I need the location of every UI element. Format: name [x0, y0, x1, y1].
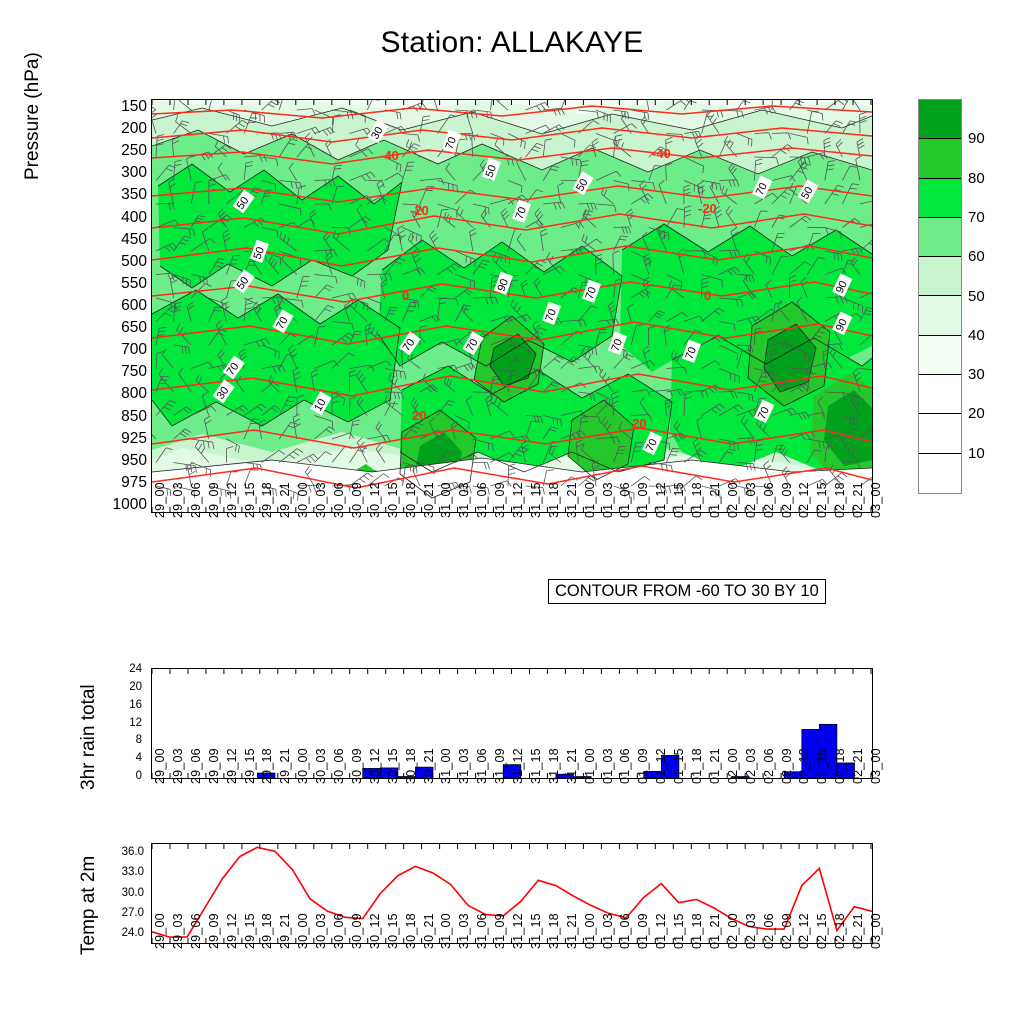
time-tick-31_06: 31_06 — [475, 482, 489, 518]
pressure-tick-600: 600 — [121, 298, 147, 313]
rain-tick-20: 20 — [129, 681, 142, 693]
time-tick-31_21: 31_21 — [565, 482, 579, 518]
time-tick-01_00: 01_00 — [583, 748, 597, 784]
colorbar-segment-3 — [919, 218, 961, 257]
rain-axis-title: 3hr rain total — [78, 684, 100, 790]
colorbar-segment-8 — [919, 414, 961, 453]
time-tick-29_18: 29_18 — [260, 482, 274, 518]
rain-tick-16: 16 — [129, 699, 142, 711]
time-tick-01_18: 01_18 — [690, 748, 704, 784]
time-tick-02_15: 02_15 — [815, 913, 829, 949]
rain-tick-24: 24 — [129, 663, 142, 675]
time-tick-30_00: 30_00 — [296, 748, 310, 784]
time-tick-29_15: 29_15 — [243, 748, 257, 784]
main-y-axis-ticks: 1502002503003504004505005506006507007508… — [95, 99, 147, 513]
time-tick-30_12: 30_12 — [368, 913, 382, 949]
time-tick-30_12: 30_12 — [368, 482, 382, 518]
colorbar-tick-90: 90 — [968, 130, 985, 147]
temp-y-axis-ticks: 36.033.030.027.024.0 — [100, 843, 144, 944]
time-tick-02_09: 02_09 — [780, 748, 794, 784]
pressure-tick-550: 550 — [121, 276, 147, 291]
time-tick-31_00: 31_00 — [439, 748, 453, 784]
time-tick-03_00: 03_00 — [869, 913, 883, 949]
time-tick-02_06: 02_06 — [762, 913, 776, 949]
pressure-tick-950: 950 — [121, 453, 147, 468]
time-tick-31_06: 31_06 — [475, 748, 489, 784]
main-x-axis-labels: 29_0029_0329_0629_0929_1229_1529_1829_21… — [151, 518, 873, 588]
time-tick-29_18: 29_18 — [260, 913, 274, 949]
time-tick-30_15: 30_15 — [386, 748, 400, 784]
time-tick-03_00: 03_00 — [869, 482, 883, 518]
time-tick-31_15: 31_15 — [529, 913, 543, 949]
isotherm-label-zero: 0 — [402, 288, 409, 303]
time-tick-02_00: 02_00 — [726, 913, 740, 949]
pressure-tick-150: 150 — [121, 99, 147, 114]
rain-tick-0: 0 — [136, 770, 142, 782]
time-tick-01_18: 01_18 — [690, 913, 704, 949]
isotherm-label-minus40: -40 — [380, 148, 399, 163]
time-tick-30_03: 30_03 — [314, 748, 328, 784]
time-tick-01_21: 01_21 — [708, 748, 722, 784]
time-tick-02_06: 02_06 — [762, 482, 776, 518]
temp-tick-27.0: 27.0 — [122, 907, 144, 919]
isotherm-label-20: 20 — [412, 408, 426, 423]
time-tick-30_21: 30_21 — [422, 748, 436, 784]
time-tick-02_18: 02_18 — [833, 482, 847, 518]
colorbar-tick-20: 20 — [968, 405, 985, 422]
time-tick-02_12: 02_12 — [797, 482, 811, 518]
time-tick-29_03: 29_03 — [171, 913, 185, 949]
time-tick-30_12: 30_12 — [368, 748, 382, 784]
time-tick-01_09: 01_09 — [636, 482, 650, 518]
time-tick-02_00: 02_00 — [726, 748, 740, 784]
time-tick-02_12: 02_12 — [797, 748, 811, 784]
time-tick-31_00: 31_00 — [439, 482, 453, 518]
time-tick-29_09: 29_09 — [207, 748, 221, 784]
time-tick-29_03: 29_03 — [171, 748, 185, 784]
time-tick-31_03: 31_03 — [457, 482, 471, 518]
time-tick-01_21: 01_21 — [708, 913, 722, 949]
time-tick-02_15: 02_15 — [815, 482, 829, 518]
time-tick-29_15: 29_15 — [243, 482, 257, 518]
time-tick-31_18: 31_18 — [547, 913, 561, 949]
time-tick-29_21: 29_21 — [278, 913, 292, 949]
rain-y-axis-ticks: 24201612840 — [100, 668, 142, 779]
pressure-tick-650: 650 — [121, 320, 147, 335]
time-tick-31_21: 31_21 — [565, 748, 579, 784]
rain-tick-8: 8 — [136, 734, 142, 746]
pressure-tick-350: 350 — [121, 187, 147, 202]
colorbar-segment-0 — [919, 100, 961, 139]
time-tick-02_18: 02_18 — [833, 748, 847, 784]
time-tick-31_21: 31_21 — [565, 913, 579, 949]
time-tick-30_09: 30_09 — [350, 482, 364, 518]
time-tick-30_03: 30_03 — [314, 482, 328, 518]
time-tick-31_00: 31_00 — [439, 913, 453, 949]
colorbar-segment-6 — [919, 336, 961, 375]
colorbar-tick-80: 80 — [968, 170, 985, 187]
colorbar-tick-10: 10 — [968, 445, 985, 462]
pressure-tick-300: 300 — [121, 165, 147, 180]
time-tick-30_15: 30_15 — [386, 482, 400, 518]
time-tick-02_03: 02_03 — [744, 913, 758, 949]
time-tick-31_15: 31_15 — [529, 482, 543, 518]
time-tick-29_00: 29_00 — [153, 482, 167, 518]
time-tick-31_18: 31_18 — [547, 748, 561, 784]
time-tick-31_09: 31_09 — [493, 913, 507, 949]
colorbar-segment-4 — [919, 257, 961, 296]
page-title: Station: ALLAKAYE — [0, 26, 1024, 60]
time-tick-02_21: 02_21 — [851, 913, 865, 949]
time-tick-01_09: 01_09 — [636, 748, 650, 784]
colorbar-tick-40: 40 — [968, 327, 985, 344]
colorbar-segment-9 — [919, 454, 961, 493]
time-tick-02_18: 02_18 — [833, 913, 847, 949]
time-tick-29_18: 29_18 — [260, 748, 274, 784]
time-tick-02_00: 02_00 — [726, 482, 740, 518]
time-tick-30_09: 30_09 — [350, 913, 364, 949]
pressure-tick-925: 925 — [121, 431, 147, 446]
main-plot-canvas: -40 -40 -20 -20 0 0 20 20 30 70 50 50 70… — [152, 100, 872, 512]
time-tick-29_00: 29_00 — [153, 913, 167, 949]
time-tick-02_09: 02_09 — [780, 482, 794, 518]
time-tick-29_12: 29_12 — [225, 913, 239, 949]
colorbar-tick-60: 60 — [968, 248, 985, 265]
pressure-tick-800: 800 — [121, 386, 147, 401]
pressure-tick-1000: 1000 — [113, 497, 147, 512]
time-tick-03_00: 03_00 — [869, 748, 883, 784]
time-tick-01_15: 01_15 — [672, 913, 686, 949]
pressure-tick-250: 250 — [121, 143, 147, 158]
time-tick-29_15: 29_15 — [243, 913, 257, 949]
time-tick-02_15: 02_15 — [815, 748, 829, 784]
temp-axis-title: Temp at 2m — [78, 856, 100, 955]
time-tick-29_21: 29_21 — [278, 748, 292, 784]
time-tick-01_03: 01_03 — [601, 748, 615, 784]
time-tick-30_00: 30_00 — [296, 913, 310, 949]
colorbar-segment-1 — [919, 139, 961, 178]
time-tick-30_21: 30_21 — [422, 482, 436, 518]
rain-tick-12: 12 — [129, 717, 142, 729]
time-tick-01_12: 01_12 — [654, 748, 668, 784]
rain-tick-4: 4 — [136, 752, 142, 764]
time-tick-31_15: 31_15 — [529, 748, 543, 784]
time-tick-01_03: 01_03 — [601, 913, 615, 949]
time-tick-02_21: 02_21 — [851, 482, 865, 518]
time-tick-01_18: 01_18 — [690, 482, 704, 518]
temp-x-axis-labels: 29_0029_0329_0629_0929_1229_1529_1829_21… — [151, 949, 873, 1019]
time-tick-29_03: 29_03 — [171, 482, 185, 518]
colorbar-tick-70: 70 — [968, 209, 985, 226]
time-tick-31_12: 31_12 — [511, 482, 525, 518]
time-tick-31_09: 31_09 — [493, 482, 507, 518]
humidity-time-height-plot[interactable]: -40 -40 -20 -20 0 0 20 20 30 70 50 50 70… — [151, 99, 873, 513]
isotherm-label-20-b: 20 — [632, 416, 646, 431]
time-tick-01_00: 01_00 — [583, 482, 597, 518]
time-tick-02_09: 02_09 — [780, 913, 794, 949]
pressure-tick-500: 500 — [121, 254, 147, 269]
humidity-colorbar-labels: 908070605040302010 — [968, 99, 1018, 494]
time-tick-01_15: 01_15 — [672, 482, 686, 518]
time-tick-01_06: 01_06 — [618, 482, 632, 518]
time-tick-30_21: 30_21 — [422, 913, 436, 949]
time-tick-01_03: 01_03 — [601, 482, 615, 518]
time-tick-30_09: 30_09 — [350, 748, 364, 784]
time-tick-01_21: 01_21 — [708, 482, 722, 518]
time-tick-01_06: 01_06 — [618, 913, 632, 949]
time-tick-29_12: 29_12 — [225, 482, 239, 518]
time-tick-30_15: 30_15 — [386, 913, 400, 949]
temp-tick-36.0: 36.0 — [122, 846, 144, 858]
time-tick-29_21: 29_21 — [278, 482, 292, 518]
time-tick-01_15: 01_15 — [672, 748, 686, 784]
time-tick-01_06: 01_06 — [618, 748, 632, 784]
time-tick-31_12: 31_12 — [511, 748, 525, 784]
time-tick-01_09: 01_09 — [636, 913, 650, 949]
humidity-colorbar — [918, 99, 962, 494]
time-tick-02_12: 02_12 — [797, 913, 811, 949]
time-tick-31_06: 31_06 — [475, 913, 489, 949]
pressure-tick-975: 975 — [121, 475, 147, 490]
pressure-tick-750: 750 — [121, 364, 147, 379]
time-tick-30_00: 30_00 — [296, 482, 310, 518]
time-tick-30_06: 30_06 — [332, 482, 346, 518]
time-tick-30_06: 30_06 — [332, 913, 346, 949]
time-tick-29_12: 29_12 — [225, 748, 239, 784]
time-tick-30_18: 30_18 — [404, 748, 418, 784]
time-tick-02_03: 02_03 — [744, 748, 758, 784]
time-tick-29_06: 29_06 — [189, 748, 203, 784]
contour-note: CONTOUR FROM -60 TO 30 BY 10 — [548, 579, 826, 604]
temp-tick-24.0: 24.0 — [122, 927, 144, 939]
pressure-tick-700: 700 — [121, 342, 147, 357]
time-tick-29_06: 29_06 — [189, 482, 203, 518]
pressure-tick-850: 850 — [121, 409, 147, 424]
time-tick-02_03: 02_03 — [744, 482, 758, 518]
time-tick-01_00: 01_00 — [583, 913, 597, 949]
colorbar-tick-30: 30 — [968, 366, 985, 383]
time-tick-30_18: 30_18 — [404, 913, 418, 949]
time-tick-29_00: 29_00 — [153, 748, 167, 784]
time-tick-29_09: 29_09 — [207, 482, 221, 518]
time-tick-30_18: 30_18 — [404, 482, 418, 518]
time-tick-01_12: 01_12 — [654, 482, 668, 518]
time-tick-31_03: 31_03 — [457, 748, 471, 784]
colorbar-segment-7 — [919, 375, 961, 414]
temp-tick-33.0: 33.0 — [122, 866, 144, 878]
isotherm-label-minus20: -20 — [410, 203, 429, 218]
isotherm-label-zero-b: 0 — [704, 288, 711, 303]
colorbar-tick-50: 50 — [968, 288, 985, 305]
main-y-axis-title: Pressure (hPa) — [22, 52, 44, 180]
time-tick-29_06: 29_06 — [189, 913, 203, 949]
time-tick-31_12: 31_12 — [511, 913, 525, 949]
colorbar-segment-2 — [919, 179, 961, 218]
time-tick-31_18: 31_18 — [547, 482, 561, 518]
temp-tick-30.0: 30.0 — [122, 887, 144, 899]
time-tick-02_21: 02_21 — [851, 748, 865, 784]
pressure-tick-400: 400 — [121, 210, 147, 225]
time-tick-30_03: 30_03 — [314, 913, 328, 949]
time-tick-02_06: 02_06 — [762, 748, 776, 784]
time-tick-30_06: 30_06 — [332, 748, 346, 784]
time-tick-01_12: 01_12 — [654, 913, 668, 949]
time-tick-31_09: 31_09 — [493, 748, 507, 784]
isotherm-label-minus20-b: -20 — [698, 201, 717, 216]
pressure-tick-200: 200 — [121, 121, 147, 136]
time-tick-29_09: 29_09 — [207, 913, 221, 949]
time-tick-31_03: 31_03 — [457, 913, 471, 949]
colorbar-segment-5 — [919, 296, 961, 335]
isotherm-label-minus40-b: -40 — [652, 146, 671, 161]
pressure-tick-450: 450 — [121, 232, 147, 247]
